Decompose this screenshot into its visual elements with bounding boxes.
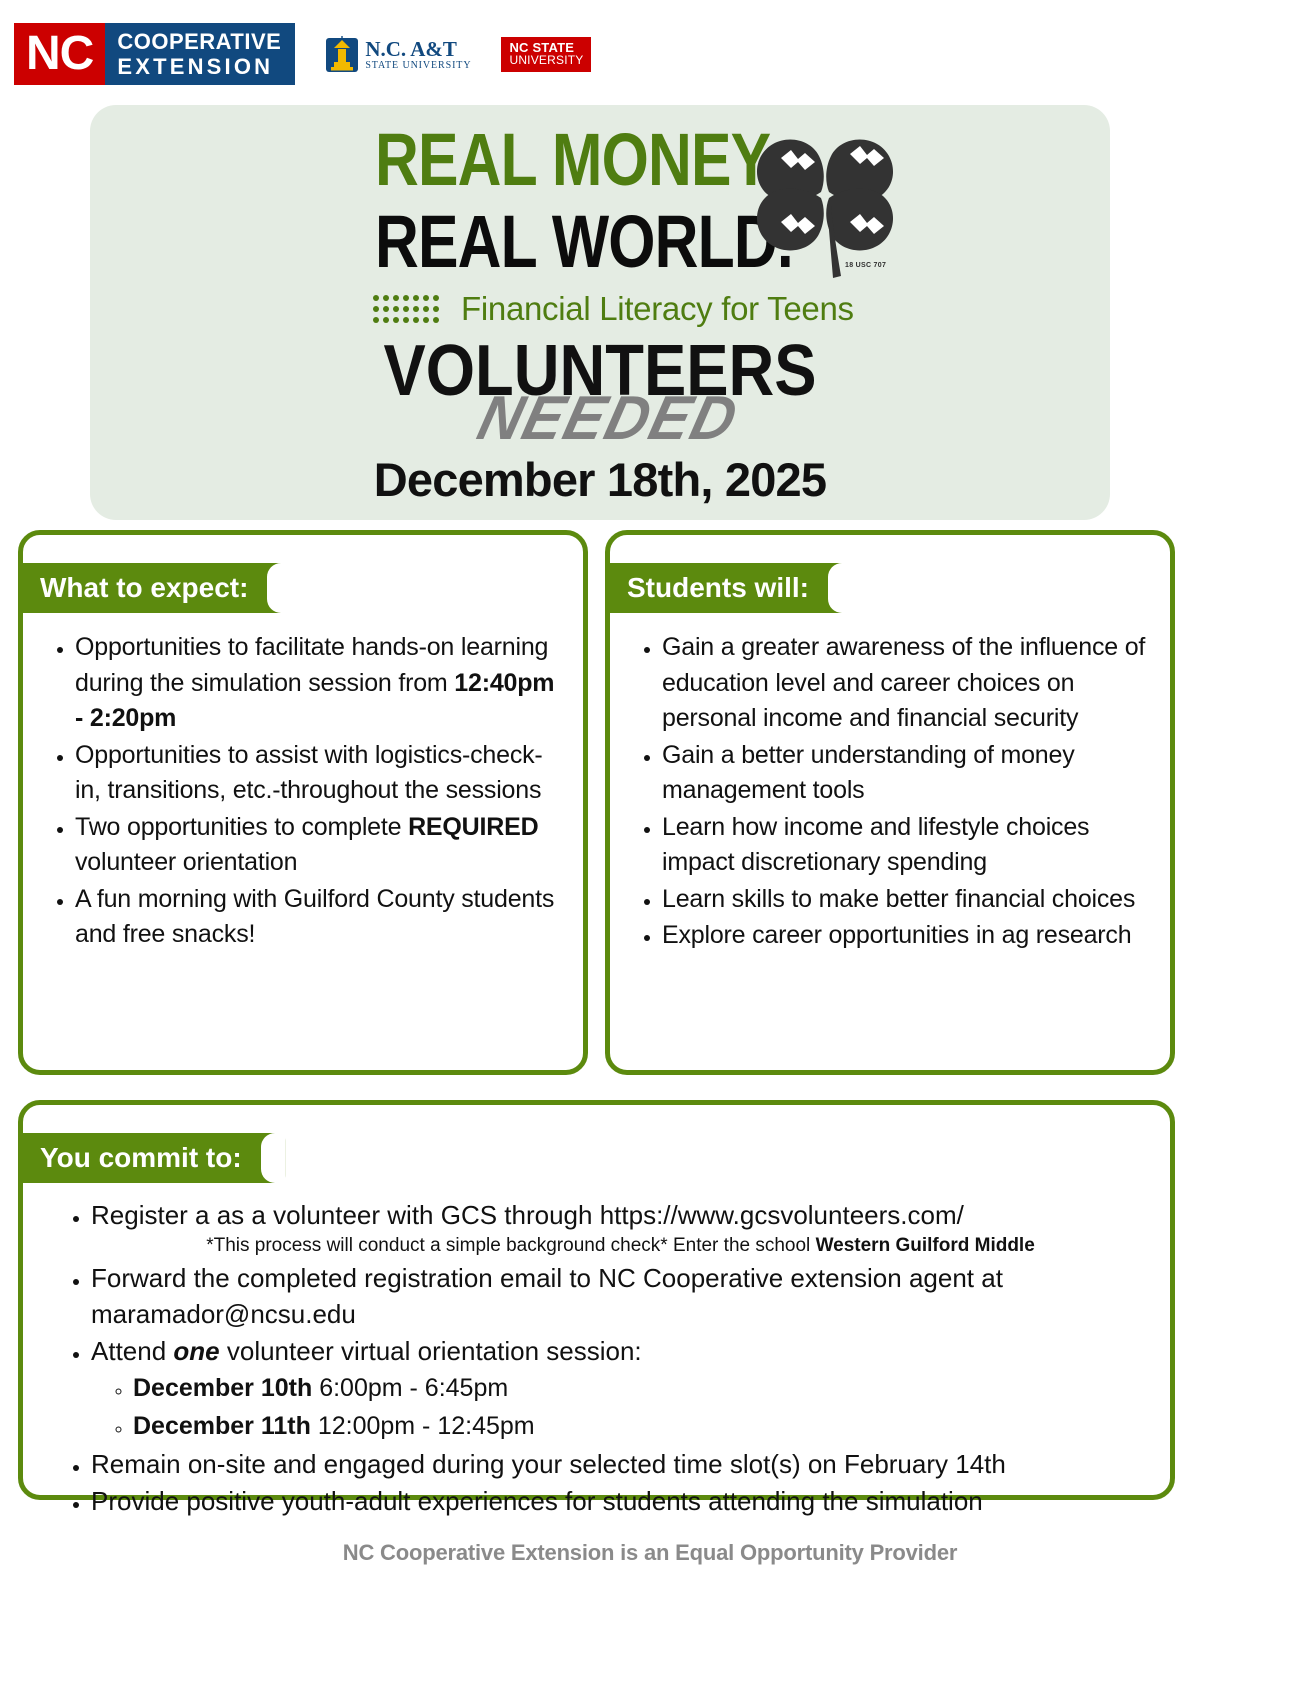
list-item: Remain on-site and engaged during your s… xyxy=(91,1446,1144,1482)
nc-at-state-university-logo: N.C. A&T STATE UNIVERSITY xyxy=(325,34,471,74)
nc-logo-line2: EXTENSION xyxy=(117,54,281,79)
attend-emphasis: one xyxy=(173,1336,219,1366)
list-item: Learn skills to make better financial ch… xyxy=(662,882,1148,918)
session-date: December 10th xyxy=(133,1374,312,1402)
session-time: 12:00pm - 12:45pm xyxy=(311,1412,535,1440)
bullet-text-before: Two opportunities to complete xyxy=(75,813,408,841)
nc-cooperative-extension-logo: NC COOPERATIVE EXTENSION xyxy=(14,23,295,85)
equal-opportunity-footer: NC Cooperative Extension is an Equal Opp… xyxy=(0,1540,1300,1566)
list-item: Forward the completed registration email… xyxy=(91,1260,1144,1332)
background-check-note-text: *This process will conduct a simple back… xyxy=(206,1235,815,1256)
bullet-text-bold: REQUIRED xyxy=(408,813,538,841)
list-item: Learn how income and lifestyle choices i… xyxy=(662,810,1148,881)
clover-usc-label: 18 USC 707 xyxy=(845,262,886,269)
list-item: Provide positive youth-adult experiences… xyxy=(91,1483,1144,1519)
hero-event-date: December 18th, 2025 xyxy=(374,453,826,507)
attend-text-before: Attend xyxy=(91,1336,173,1366)
list-item: Gain a greater awareness of the influenc… xyxy=(662,630,1148,737)
hero-needed-word: NEEDED xyxy=(472,387,745,451)
list-item: December 10th 6:00pm - 6:45pm xyxy=(133,1369,1144,1407)
nc-state-university-logo: NC STATE UNIVERSITY xyxy=(501,37,591,72)
list-item: Opportunities to assist with logistics-c… xyxy=(75,738,561,809)
list-item: Opportunities to facilitate hands-on lea… xyxy=(75,630,561,737)
attend-text-after: volunteer virtual orientation session: xyxy=(220,1336,642,1366)
you-commit-to-list: Register a as a volunteer with GCS throu… xyxy=(57,1197,1144,1519)
nc-logo-mark: NC xyxy=(14,23,105,85)
session-time: 6:00pm - 6:45pm xyxy=(312,1374,508,1402)
you-commit-to-header: You commit to: xyxy=(18,1133,286,1183)
list-item: Gain a better understanding of money man… xyxy=(662,738,1148,809)
list-item: Explore career opportunities in ag resea… xyxy=(662,918,1148,954)
list-item: December 11th 12:00pm - 12:45pm xyxy=(133,1407,1144,1445)
what-to-expect-card: What to expect: Opportunities to facilit… xyxy=(18,530,588,1075)
what-to-expect-body: Opportunities to facilitate hands-on lea… xyxy=(23,630,583,954)
what-to-expect-list: Opportunities to facilitate hands-on lea… xyxy=(41,630,561,953)
list-item: A fun morning with Guilford County stude… xyxy=(75,882,561,953)
you-commit-to-body: Register a as a volunteer with GCS throu… xyxy=(23,1197,1170,1520)
register-link-text[interactable]: Register a as a volunteer with GCS throu… xyxy=(91,1200,964,1230)
hero-subtitle: Financial Literacy for Teens xyxy=(461,290,854,328)
dot-grid-icon xyxy=(373,293,443,326)
nc-logo-line1: COOPERATIVE xyxy=(117,29,281,54)
logo-bar: NC COOPERATIVE EXTENSION N.C. A&T STATE … xyxy=(14,18,591,90)
bullet-text-before: A fun morning with Guilford County stude… xyxy=(75,885,554,949)
students-will-header: Students will: xyxy=(605,563,853,613)
nc-at-line1: N.C. A&T xyxy=(365,38,471,60)
students-will-list: Gain a greater awareness of the influenc… xyxy=(628,630,1148,954)
list-item: Attend one volunteer virtual orientation… xyxy=(91,1333,1144,1445)
what-to-expect-header: What to expect: xyxy=(18,563,292,613)
hero-headline: REAL MONEY. REAL WORLD. xyxy=(375,119,793,283)
four-h-clover-icon xyxy=(745,110,905,285)
list-item: Two opportunities to complete REQUIRED v… xyxy=(75,810,561,881)
school-name: Western Guilford Middle xyxy=(816,1235,1035,1256)
nc-at-line2: STATE UNIVERSITY xyxy=(365,60,471,71)
nc-state-line2: UNIVERSITY xyxy=(509,54,583,67)
bullet-text-after: volunteer orientation xyxy=(75,848,297,876)
hero-headline-line2: REAL WORLD. xyxy=(375,201,793,283)
you-commit-to-card: You commit to: Register a as a volunteer… xyxy=(18,1100,1175,1500)
session-date: December 11th xyxy=(133,1412,311,1440)
hero-headline-line1: REAL MONEY. xyxy=(375,119,793,201)
nc-state-line1: NC STATE xyxy=(509,41,583,54)
orientation-session-list: December 10th 6:00pm - 6:45pm December 1… xyxy=(91,1369,1144,1445)
nc-at-wordmark: N.C. A&T STATE UNIVERSITY xyxy=(365,38,471,71)
students-will-card: Students will: Gain a greater awareness … xyxy=(605,530,1175,1075)
aggie-bell-tower-icon xyxy=(325,34,359,74)
list-item: Register a as a volunteer with GCS throu… xyxy=(91,1197,1144,1259)
hero-banner: REAL MONEY. REAL WORLD. 1 xyxy=(90,105,1110,520)
bullet-text-before: Opportunities to assist with logistics-c… xyxy=(75,741,543,805)
students-will-body: Gain a greater awareness of the influenc… xyxy=(610,630,1170,955)
background-check-note: *This process will conduct a simple back… xyxy=(91,1233,1144,1259)
nc-logo-wordmark: COOPERATIVE EXTENSION xyxy=(105,23,295,85)
hero-subtitle-row: Financial Literacy for Teens xyxy=(373,290,854,328)
